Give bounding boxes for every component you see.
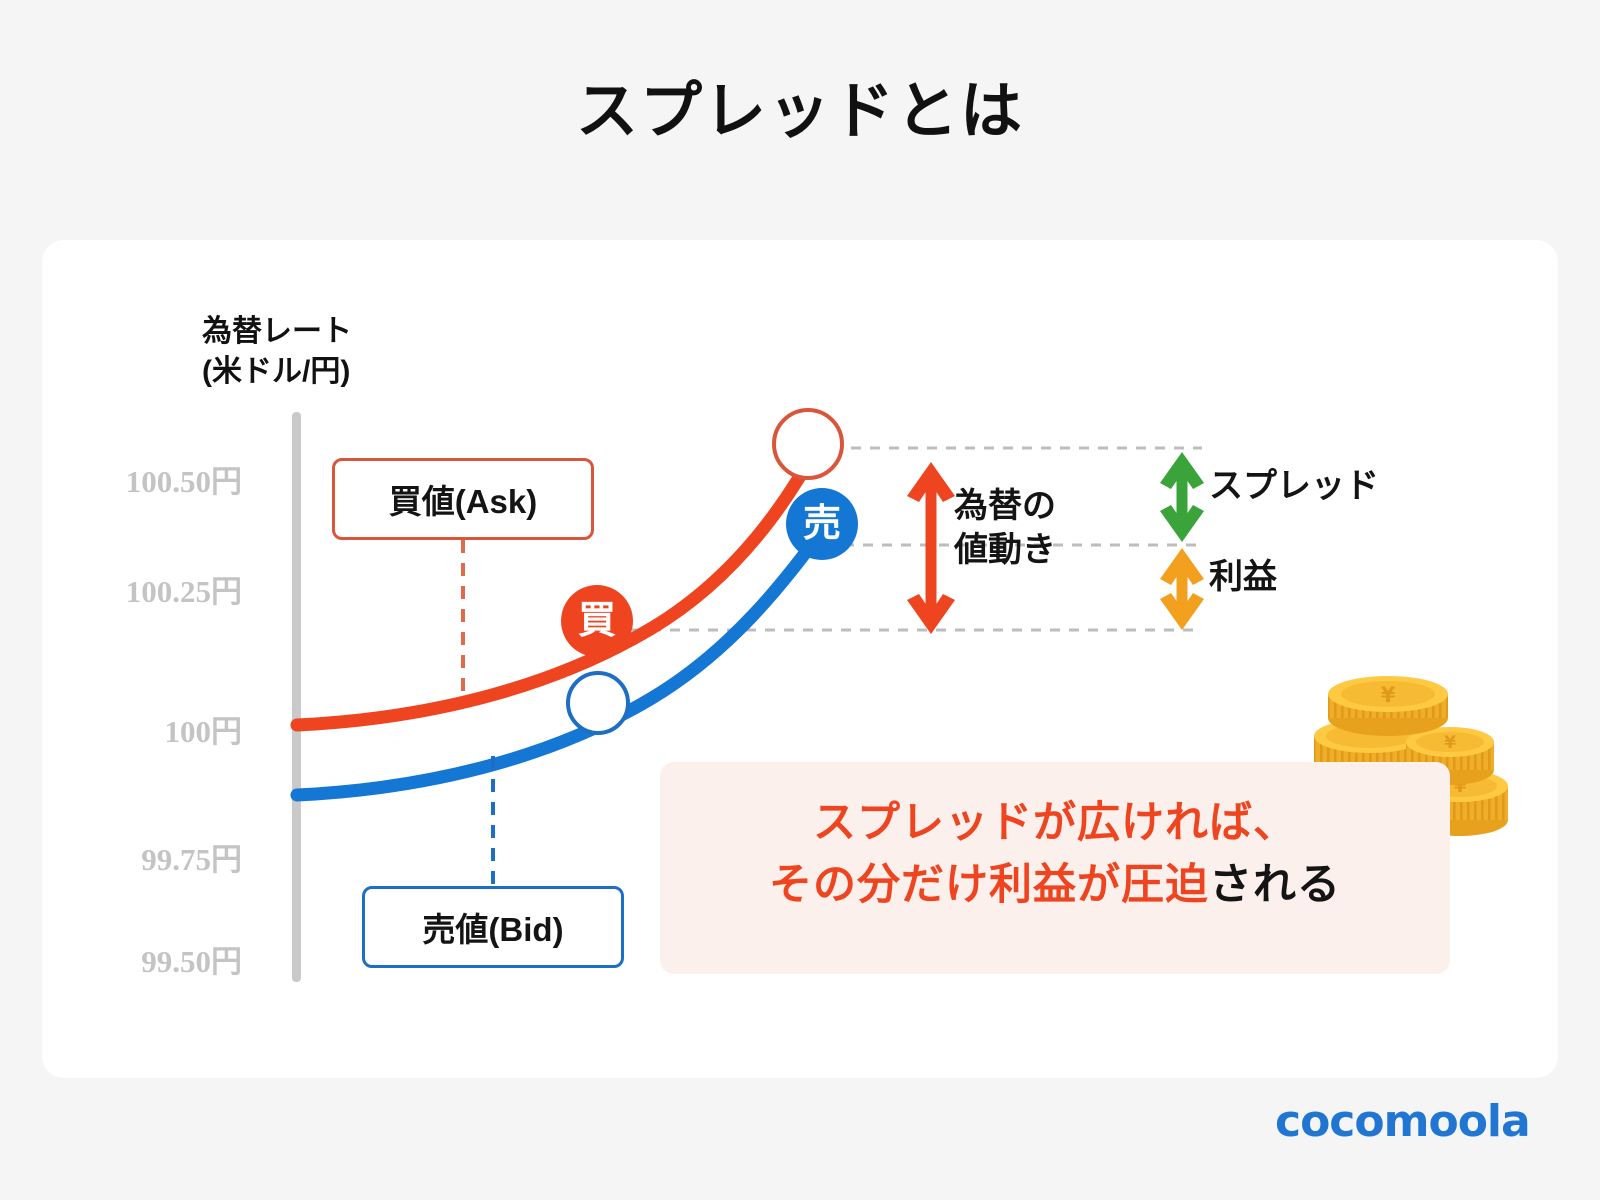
ask-label-box[interactable]: 買値(Ask) — [332, 458, 594, 540]
callout-line-2-tail: される — [1209, 861, 1341, 909]
rate-move-arrow — [907, 462, 955, 634]
callout-line-1: スプレッドが広ければ、 — [813, 799, 1297, 847]
rate-move-label: 為替の 値動き — [954, 485, 1056, 572]
callout-line-2-accent: その分だけ利益が圧迫 — [769, 861, 1209, 909]
y-axis-line — [292, 412, 301, 982]
bid-line — [297, 528, 824, 795]
svg-text:¥: ¥ — [1381, 683, 1396, 707]
profit-label: 利益 — [1209, 556, 1277, 600]
profit-arrow — [1160, 548, 1204, 630]
spread-arrow — [1160, 452, 1204, 542]
page-title: スプレッドとは — [0, 78, 1600, 146]
chart-card: 為替レート (米ドル/円) 100.50円 100.25円 100円 99.75… — [42, 240, 1558, 1078]
callout-text: スプレッドが広ければ、 その分だけ利益が圧迫される — [660, 792, 1450, 917]
spread-chart: 為替レート (米ドル/円) 100.50円 100.25円 100円 99.75… — [42, 240, 1558, 1078]
svg-text:¥: ¥ — [1444, 733, 1456, 753]
ask-endpoint-marker — [772, 408, 844, 480]
buy-marker: 買 — [561, 585, 633, 657]
bid-label-box[interactable]: 売値(Bid) — [362, 886, 624, 968]
spread-label: スプレッド — [1209, 465, 1379, 509]
bid-startpoint-marker — [566, 671, 630, 735]
cocomoola-logo: cocomoola — [1275, 1096, 1530, 1147]
sell-marker: 売 — [786, 488, 858, 560]
